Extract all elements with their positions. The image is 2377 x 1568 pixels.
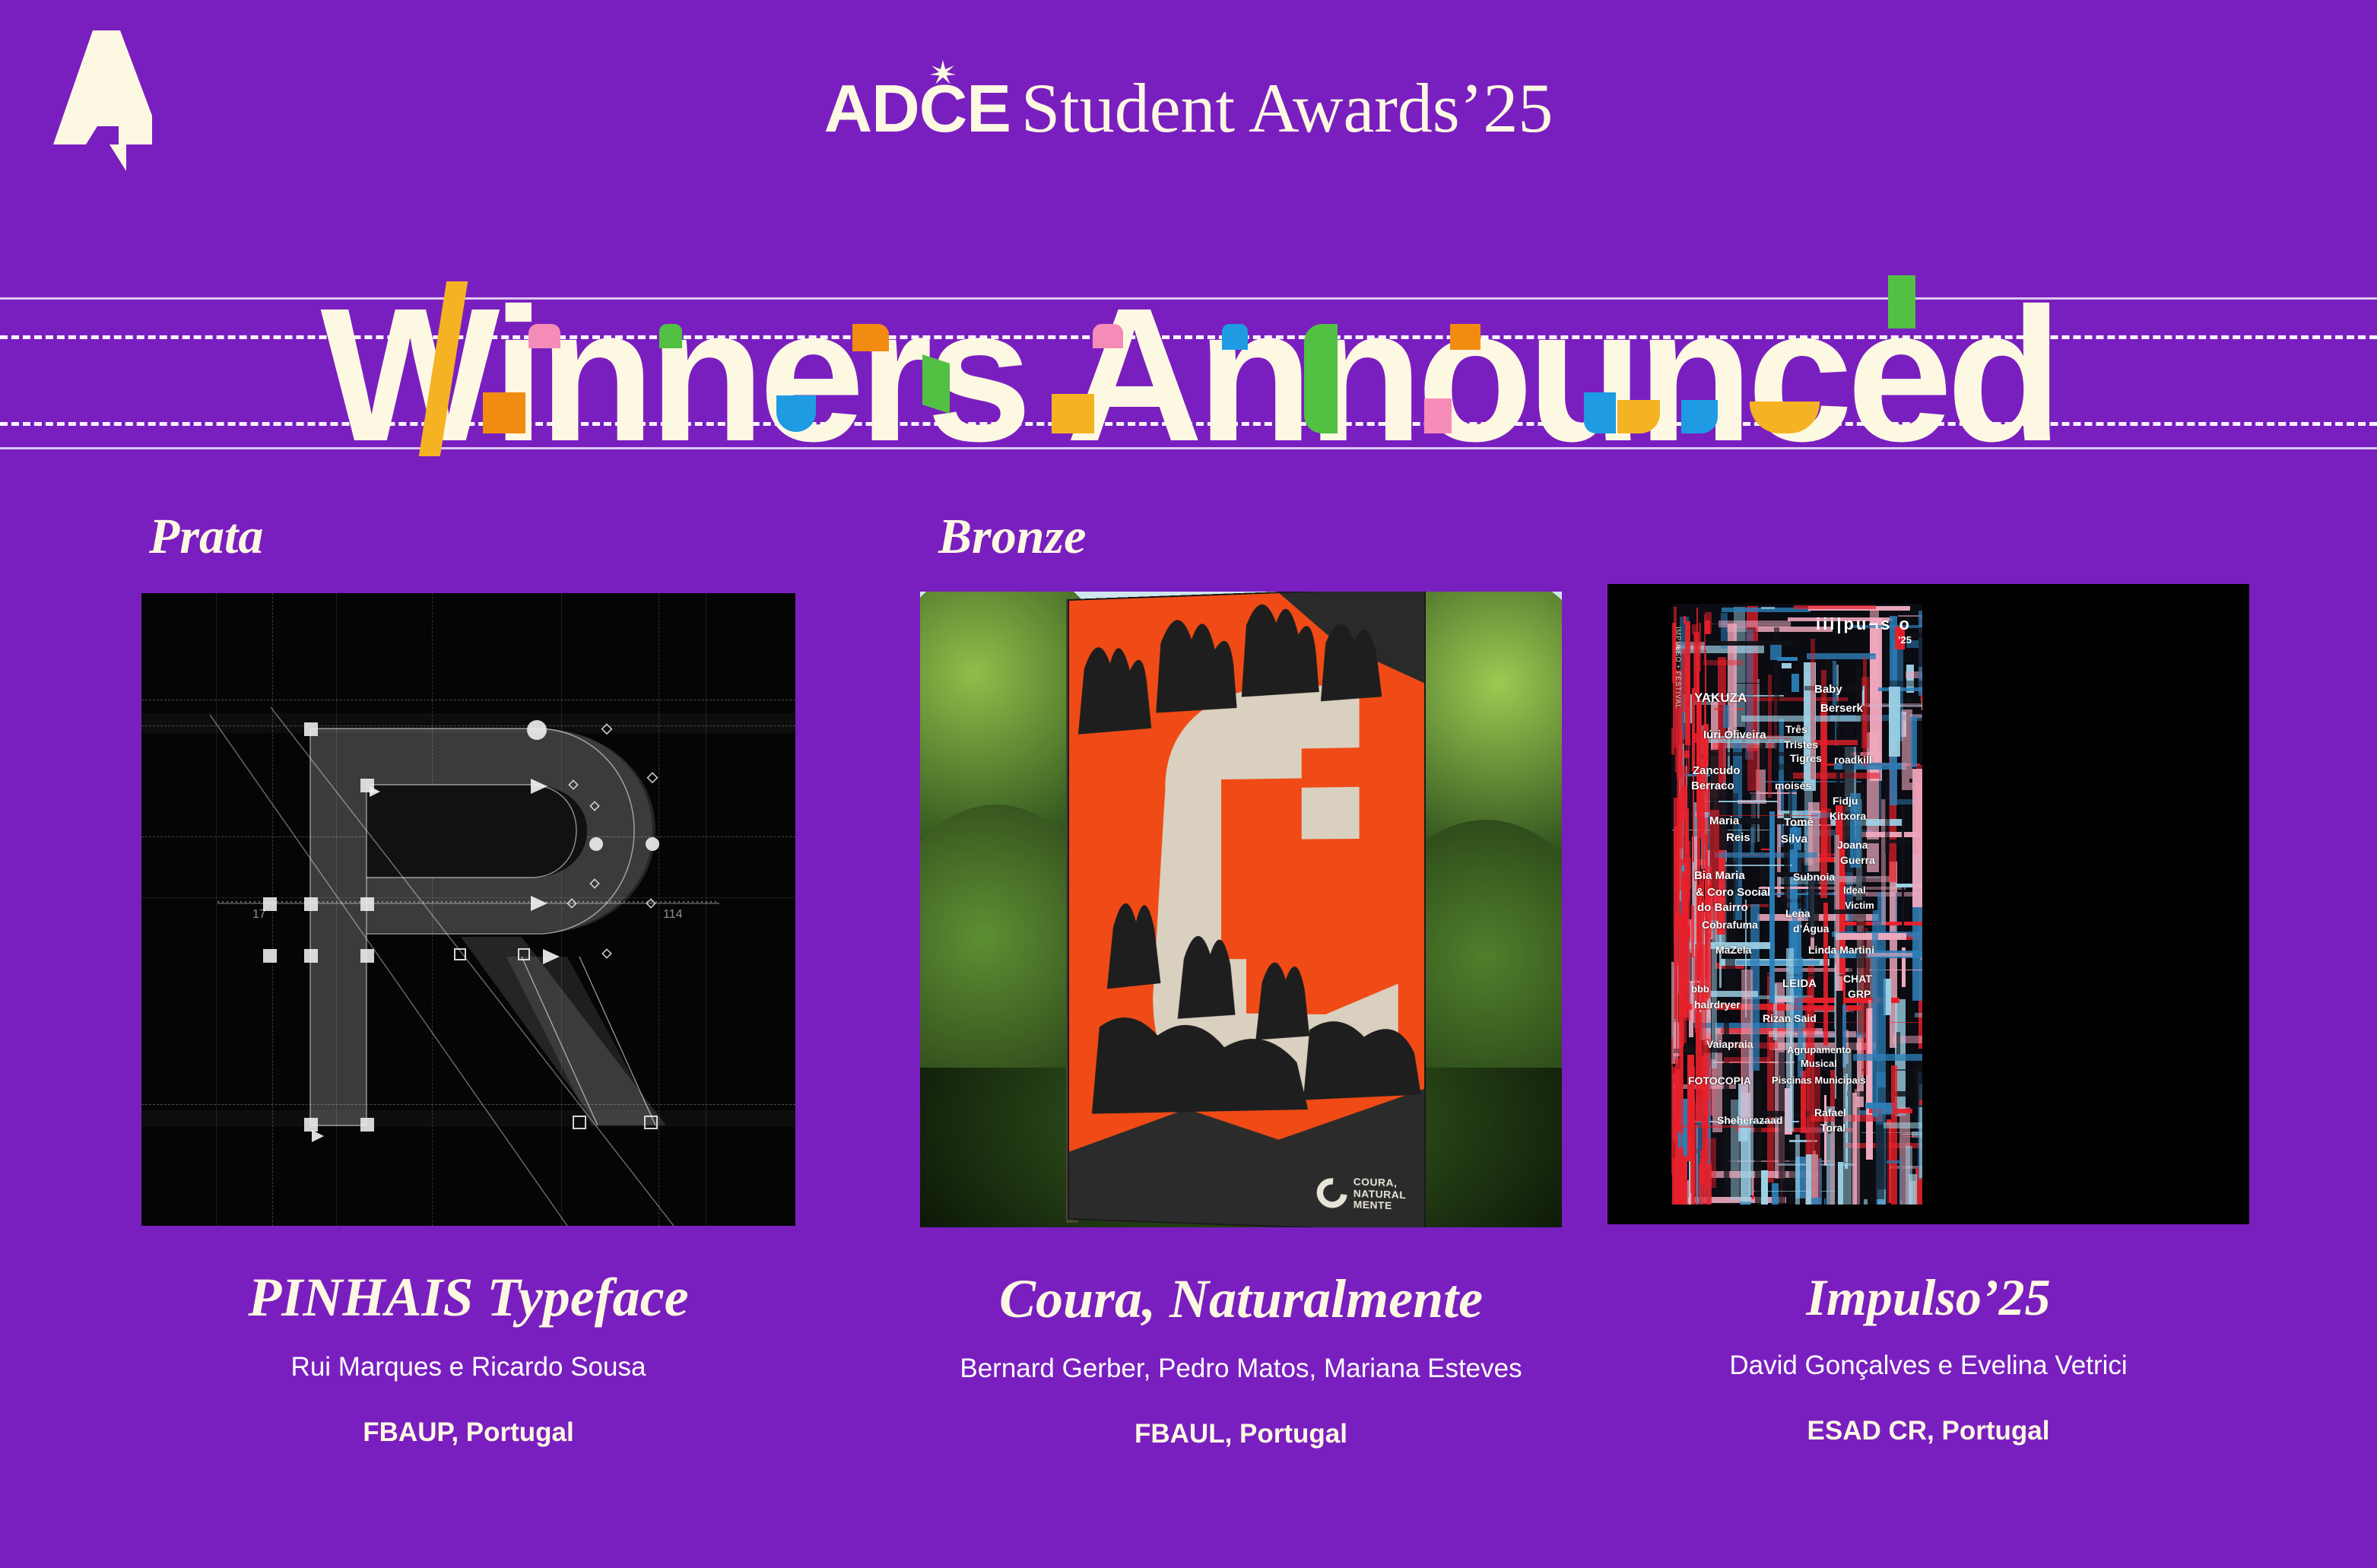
winner-card-pinhais[interactable]: 17 114 PINHAIS Typeface Rui Marques e Ri… (141, 593, 795, 1448)
lineup-name: Toral (1820, 1122, 1845, 1133)
lineup-name: Tristes (1784, 739, 1818, 750)
lineup-name: moisés (1775, 780, 1811, 791)
lineup-name: do Bairro (1697, 902, 1748, 913)
chip-blue-n-shoulder (1222, 324, 1248, 350)
billboard-panel: COURA, NATURAL MENTE (1069, 592, 1424, 1227)
lineup-name: FOTOCOPIA (1688, 1075, 1751, 1086)
chip-green-n-shoulder (659, 324, 682, 348)
lineup-name: d’Água (1793, 923, 1829, 934)
lineup-name: roadkill (1834, 754, 1872, 765)
billboard-photo: COURA, NATURAL MENTE (920, 592, 1562, 1227)
star-icon (930, 60, 956, 86)
lineup-name: Tomé (1784, 817, 1814, 828)
card-authors: Rui Marques e Ricardo Sousa (141, 1352, 795, 1382)
headline-string: Winners Announced (320, 268, 2056, 481)
card-title: Coura, Naturalmente (920, 1271, 1562, 1326)
coura-logo-line-3: MENTE (1354, 1200, 1407, 1213)
chip-orange-u-shoulder (1450, 324, 1480, 350)
lineup-name: Ideal (1843, 885, 1866, 895)
brand-adce-wordmark: ADCE (824, 75, 1011, 142)
glyph-bezier-paths (141, 593, 795, 1226)
winner-artwork-coura[interactable]: COURA, NATURAL MENTE (920, 592, 1562, 1227)
lineup-name: Victim (1845, 900, 1874, 910)
lineup-name-list: YAKUZABabyBerserkIúri OliveiraTrêsTriste… (1671, 604, 1922, 1205)
lineup-name: Joana (1837, 840, 1868, 850)
glitch-poster-canvas: IMPULSO • FESTIVAL iii|pu¬s o ’25 YAKUZA… (1671, 604, 1922, 1205)
poster-vegetation-silhouette (1069, 592, 1424, 1227)
glitch-poster: IMPULSO • FESTIVAL iii|pu¬s o ’25 YAKUZA… (1607, 584, 2249, 1224)
lineup-name: Zancudo (1693, 765, 1741, 776)
lineup-name: Silva (1781, 833, 1807, 845)
card-title: PINHAIS Typeface (141, 1270, 795, 1325)
card-school: FBAUL, Portugal (920, 1419, 1562, 1449)
lineup-name: GRP (1848, 989, 1871, 999)
lineup-name: Kitxora (1830, 811, 1866, 821)
lineup-name: Baby (1814, 684, 1842, 695)
chip-blue-c-tail (1681, 400, 1718, 433)
lineup-name: MaZela (1715, 944, 1751, 955)
chip-yellow-a-foot (1052, 394, 1094, 433)
winner-artwork-impulso[interactable]: IMPULSO • FESTIVAL iii|pu¬s o ’25 YAKUZA… (1607, 584, 2249, 1224)
lineup-name: Bia Maria (1694, 870, 1745, 881)
glyph-metric-label-right: 114 (663, 908, 683, 922)
lineup-name: Musical (1801, 1059, 1837, 1068)
lineup-name: Reis (1726, 832, 1750, 843)
lineup-name: Fidju (1833, 795, 1858, 806)
chip-orange-i-foot (483, 392, 525, 433)
headline-text: Winners Announced (320, 280, 2056, 470)
lineup-name: Lena (1785, 908, 1811, 919)
tier-label-prata: Prata (149, 508, 263, 566)
winner-card-coura[interactable]: COURA, NATURAL MENTE Coura, Naturalmente… (920, 592, 1562, 1449)
brand-subtitle: Student Awards’25 (1021, 69, 1553, 147)
lineup-name: Vaiapraia (1706, 1039, 1753, 1049)
lineup-name: Cobrafuma (1702, 919, 1758, 930)
lineup-name: Subnoia (1793, 871, 1835, 882)
chip-green-d-ascender (1888, 275, 1915, 329)
lineup-name: CHAT (1843, 973, 1872, 984)
lineup-name: Rizan Said (1763, 1013, 1817, 1024)
lineup-name: Linda Martini (1808, 944, 1874, 955)
card-school: ESAD CR, Portugal (1607, 1416, 2249, 1446)
lineup-name: Maria (1709, 815, 1739, 827)
chip-blue-n-foot (1584, 392, 1616, 433)
lineup-name: Três (1785, 724, 1807, 735)
card-authors: Bernard Gerber, Pedro Matos, Mariana Est… (920, 1354, 1562, 1384)
tier-label-bronze: Bronze (938, 508, 1086, 566)
lineup-name: Tigres (1790, 753, 1822, 763)
page-title: ADCEStudent Awards’25 (0, 73, 2377, 143)
coura-logo: COURA, NATURAL MENTE (1316, 1176, 1406, 1213)
lineup-name: Agrupamento (1787, 1045, 1852, 1055)
chip-green-o-left (1304, 324, 1338, 433)
lineup-name: LEIDA (1782, 978, 1817, 989)
card-title: Impulso’25 (1607, 1271, 2249, 1323)
lineup-name: Berserk (1820, 703, 1863, 714)
brand-e-text: E (966, 71, 1011, 146)
glyph-metric-label-left: 17 (252, 908, 266, 922)
c-circle-icon (1310, 1173, 1353, 1214)
chip-pink-a-shoulder (1093, 324, 1123, 348)
lineup-name: Guerra (1840, 855, 1875, 865)
card-authors: David Gonçalves e Evelina Vetrici (1607, 1351, 2249, 1381)
lineup-name: bbb (1691, 984, 1709, 994)
lineup-name: Rafael (1814, 1107, 1846, 1118)
lineup-name: hairdryer (1694, 999, 1741, 1010)
winner-card-impulso[interactable]: IMPULSO • FESTIVAL iii|pu¬s o ’25 YAKUZA… (1607, 584, 2249, 1446)
card-school: FBAUP, Portugal (141, 1417, 795, 1448)
font-editor-screenshot: 17 114 (141, 593, 795, 1226)
chip-pink-n-shoulder (528, 324, 560, 348)
headline-winners-announced: Winners Announced (0, 280, 2377, 470)
lineup-name: & Coro Social (1696, 887, 1770, 898)
lineup-name: Iúri Oliveira (1703, 729, 1766, 741)
winner-artwork-pinhais[interactable]: 17 114 (141, 593, 795, 1226)
lineup-name: YAKUZA (1694, 691, 1747, 704)
coura-logo-text: COURA, NATURAL MENTE (1354, 1177, 1407, 1213)
poster-canvas: ADCEStudent Awards’25 Winners Announced (0, 0, 2377, 1568)
chip-orange-r-shoulder (852, 324, 889, 351)
lineup-name: Sheherazaad (1717, 1115, 1782, 1125)
lineup-name: Berraco (1691, 780, 1734, 792)
lineup-name: Piscinas Municipais (1772, 1075, 1866, 1085)
chip-pink-u-foot (1424, 398, 1452, 433)
chip-green-s-spine (922, 354, 950, 414)
